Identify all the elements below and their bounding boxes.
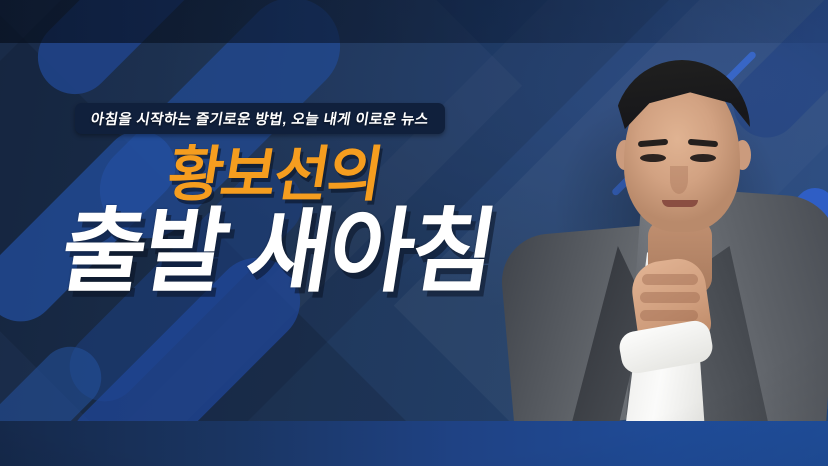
finger-1 bbox=[642, 274, 698, 285]
eye-right bbox=[690, 154, 716, 162]
top-dark-band bbox=[0, 0, 828, 43]
bottom-blue-band bbox=[0, 421, 828, 466]
nose bbox=[670, 166, 688, 194]
program-host-line: 황보선의 bbox=[163, 145, 385, 205]
program-subtitle-box: 아침을 시작하는 즐기로운 방법, 오늘 내게 이로운 뉴스 bbox=[75, 103, 445, 134]
program-title: 출발 새아침 bbox=[55, 206, 500, 298]
finger-3 bbox=[640, 310, 698, 321]
broadcast-title-card: 아침을 시작하는 즐기로운 방법, 오늘 내게 이로운 뉴스 황보선의 출발 새… bbox=[0, 0, 828, 466]
program-subtitle: 아침을 시작하는 즐기로운 방법, 오늘 내게 이로운 뉴스 bbox=[89, 108, 430, 129]
mouth bbox=[662, 200, 698, 207]
finger-2 bbox=[640, 292, 700, 303]
eye-left bbox=[640, 154, 666, 162]
host-photo bbox=[498, 44, 828, 422]
